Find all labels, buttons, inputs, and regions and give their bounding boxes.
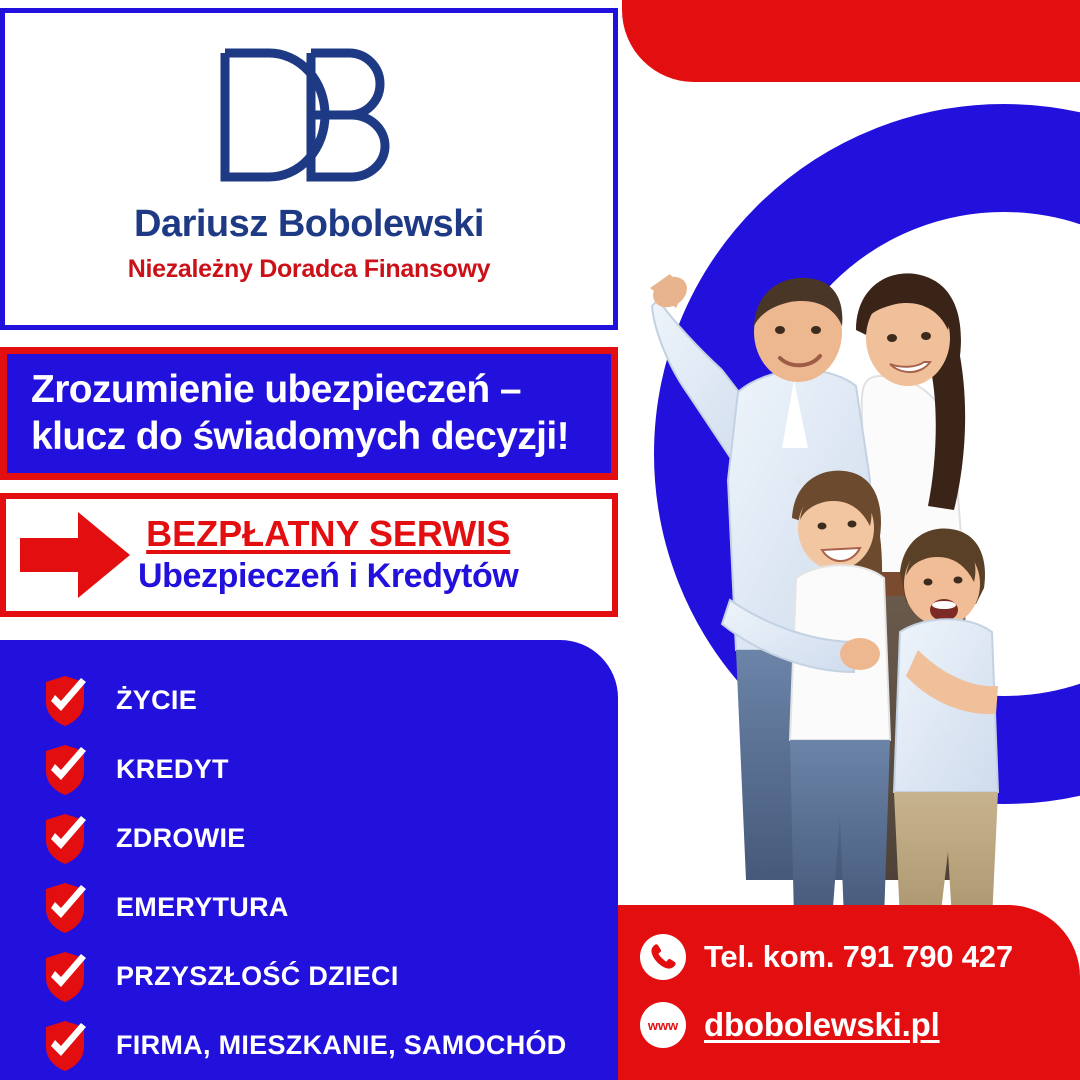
benefit-label: ZDROWIE — [116, 823, 246, 854]
family-photo — [618, 180, 1080, 920]
benefit-item-firma-mieszkanie-samochod: FIRMA, MIESZKANIE, SAMOCHÓD — [0, 1011, 618, 1080]
phone-number: Tel. kom. 791 790 427 — [704, 939, 1013, 975]
shield-check-icon — [42, 1021, 88, 1071]
logo-name: Dariusz Bobolewski — [134, 205, 484, 243]
poster-canvas: Dariusz Bobolewski Niezależny Doradca Fi… — [0, 0, 1080, 1080]
benefit-label: EMERYTURA — [116, 892, 289, 923]
contact-bar: Tel. kom. 791 790 427 www dbobolewski.pl — [618, 905, 1080, 1080]
phone-icon — [640, 934, 686, 980]
shield-check-icon — [42, 676, 88, 726]
benefit-label: KREDYT — [116, 754, 229, 785]
db-monogram-icon — [209, 39, 409, 189]
headline-box: Zrozumienie ubezpieczeń – klucz do świad… — [0, 347, 618, 480]
headline-line-1: Zrozumienie ubezpieczeń – — [31, 367, 611, 413]
benefits-panel: ŻYCIE KREDYT ZDROWIE — [0, 640, 618, 1080]
free-service-box: BEZPŁATNY SERWIS Ubezpieczeń i Kredytów — [0, 493, 618, 617]
benefit-item-zdrowie: ZDROWIE — [0, 804, 618, 873]
www-icon: www — [640, 1002, 686, 1048]
benefit-label: ŻYCIE — [116, 685, 197, 716]
website-url[interactable]: dbobolewski.pl — [704, 1006, 940, 1044]
benefit-item-kredyt: KREDYT — [0, 735, 618, 804]
benefit-label: PRZYSZŁOŚĆ DZIECI — [116, 961, 399, 992]
benefit-label: FIRMA, MIESZKANIE, SAMOCHÓD — [116, 1030, 567, 1061]
shield-check-icon — [42, 745, 88, 795]
benefit-item-emerytura: EMERYTURA — [0, 873, 618, 942]
logo-card: Dariusz Bobolewski Niezależny Doradca Fi… — [0, 8, 618, 330]
contact-phone-row[interactable]: Tel. kom. 791 790 427 — [618, 923, 1080, 991]
shield-check-icon — [42, 814, 88, 864]
benefit-item-przyszlosc-dzieci: PRZYSZŁOŚĆ DZIECI — [0, 942, 618, 1011]
arrow-right-icon — [20, 512, 130, 598]
service-text-group: BEZPŁATNY SERWIS Ubezpieczeń i Kredytów — [138, 514, 518, 597]
contact-website-row[interactable]: www dbobolewski.pl — [618, 991, 1080, 1059]
svg-text:www: www — [647, 1018, 679, 1033]
service-subtitle: Ubezpieczeń i Kredytów — [138, 557, 518, 596]
service-title: BEZPŁATNY SERWIS — [146, 514, 510, 554]
headline-line-2: klucz do świadomych decyzji! — [31, 414, 611, 460]
benefit-item-zycie: ŻYCIE — [0, 666, 618, 735]
logo-tagline: Niezależny Doradca Finansowy — [128, 257, 491, 282]
shield-check-icon — [42, 952, 88, 1002]
shield-check-icon — [42, 883, 88, 933]
